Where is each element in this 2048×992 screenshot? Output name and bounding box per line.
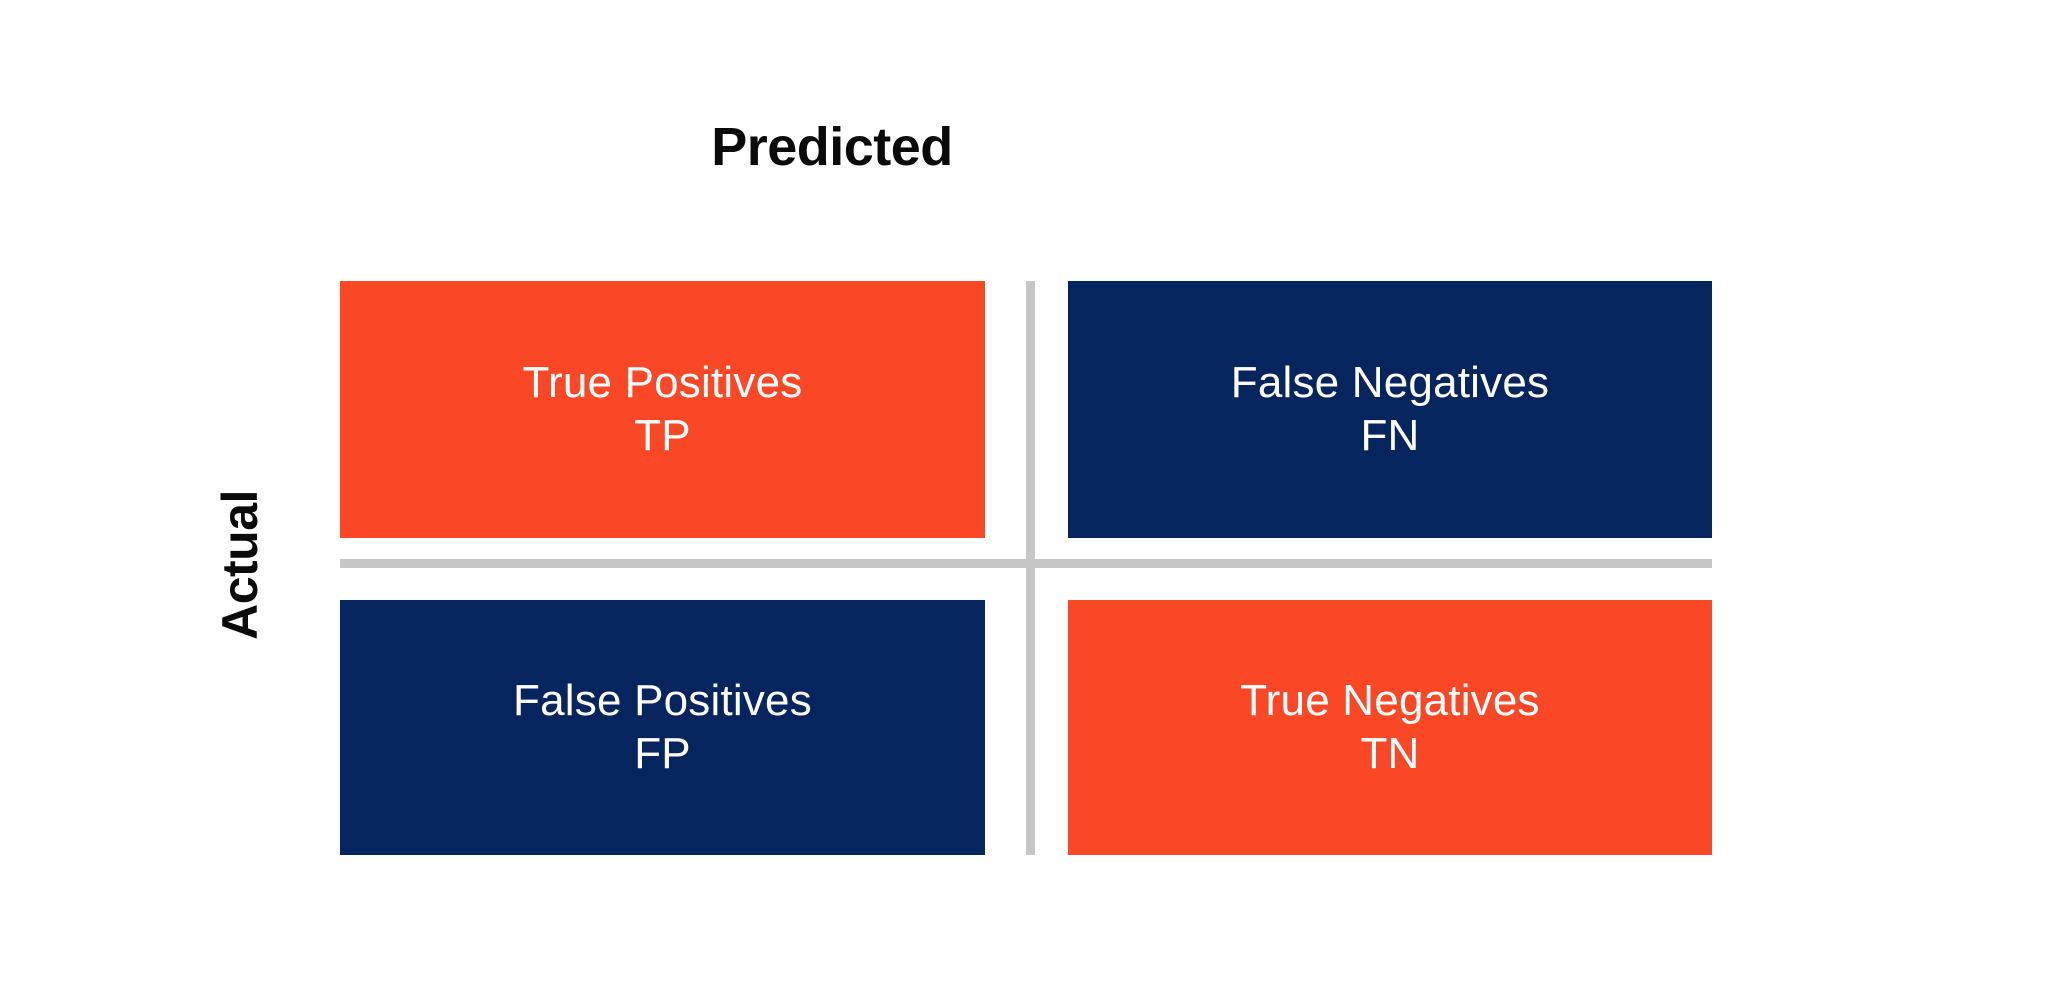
cell-true-positives-abbr: TP — [634, 413, 691, 460]
cell-true-negatives-abbr: TN — [1360, 731, 1419, 778]
cell-false-negatives: False Negatives FN — [1068, 281, 1712, 538]
cell-true-positives: True Positives TP — [340, 281, 985, 538]
cell-true-negatives: True Negatives TN — [1068, 600, 1712, 855]
predicted-axis-title-text: Predicted — [711, 120, 953, 174]
cell-false-negatives-label: False Negatives — [1231, 360, 1549, 407]
cell-false-positives: False Positives FP — [340, 600, 985, 855]
cell-false-negatives-abbr: FN — [1360, 413, 1419, 460]
cell-true-positives-label: True Positives — [523, 360, 803, 407]
cell-false-positives-abbr: FP — [634, 731, 691, 778]
confusion-matrix-diagram: Predicted Actual True Positives TP False… — [0, 0, 2048, 992]
vertical-divider-line — [1026, 281, 1035, 855]
cell-false-positives-label: False Positives — [513, 678, 812, 725]
actual-axis-title-text: Actual — [215, 490, 265, 640]
actual-axis-title: Actual — [200, 430, 280, 700]
horizontal-divider-line — [340, 559, 1712, 568]
predicted-axis-title: Predicted — [0, 120, 2048, 174]
cell-true-negatives-label: True Negatives — [1240, 678, 1540, 725]
